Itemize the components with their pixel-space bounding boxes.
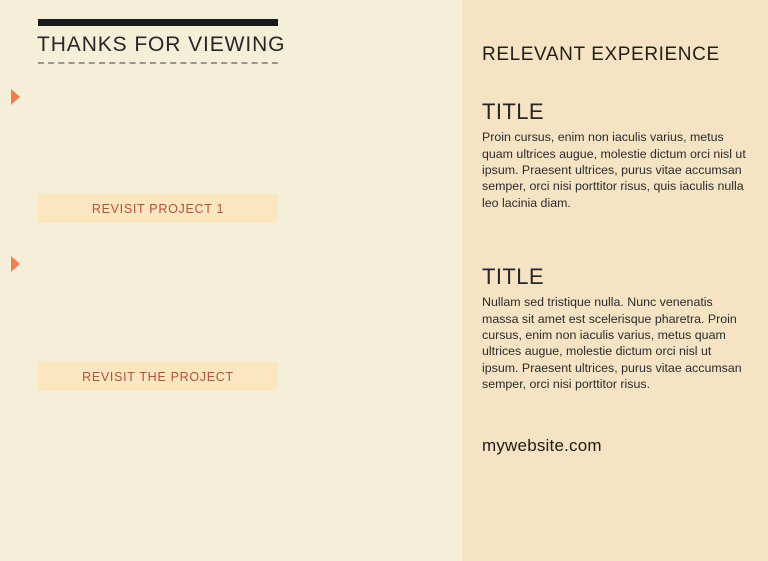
relevant-experience-heading: RELEVANT EXPERIENCE <box>482 44 720 66</box>
triangle-bullet-icon <box>11 89 20 105</box>
experience-entry-title: TITLE <box>482 265 754 288</box>
experience-entry: TITLE Nullam sed tristique nulla. Nunc v… <box>482 265 754 393</box>
slide-canvas: THANKS FOR VIEWING REVISIT PROJECT 1 REV… <box>0 0 768 561</box>
revisit-the-project-button[interactable]: REVISIT THE PROJECT <box>38 362 278 391</box>
left-panel: THANKS FOR VIEWING REVISIT PROJECT 1 REV… <box>0 0 462 561</box>
revisit-project-1-button[interactable]: REVISIT PROJECT 1 <box>38 194 278 223</box>
experience-entry-body: Proin cursus, enim non iaculis varius, m… <box>482 129 750 211</box>
experience-entry-title: TITLE <box>482 100 754 123</box>
experience-entry-body: Nullam sed tristique nulla. Nunc venenat… <box>482 294 750 392</box>
right-panel: RELEVANT EXPERIENCE TITLE Proin cursus, … <box>462 0 768 561</box>
page-title: THANKS FOR VIEWING <box>37 33 285 57</box>
website-link[interactable]: mywebsite.com <box>482 436 602 456</box>
heading-top-rule <box>38 19 278 26</box>
heading-dashed-rule <box>38 62 278 64</box>
triangle-bullet-icon <box>11 256 20 272</box>
experience-entry: TITLE Proin cursus, enim non iaculis var… <box>482 100 754 211</box>
